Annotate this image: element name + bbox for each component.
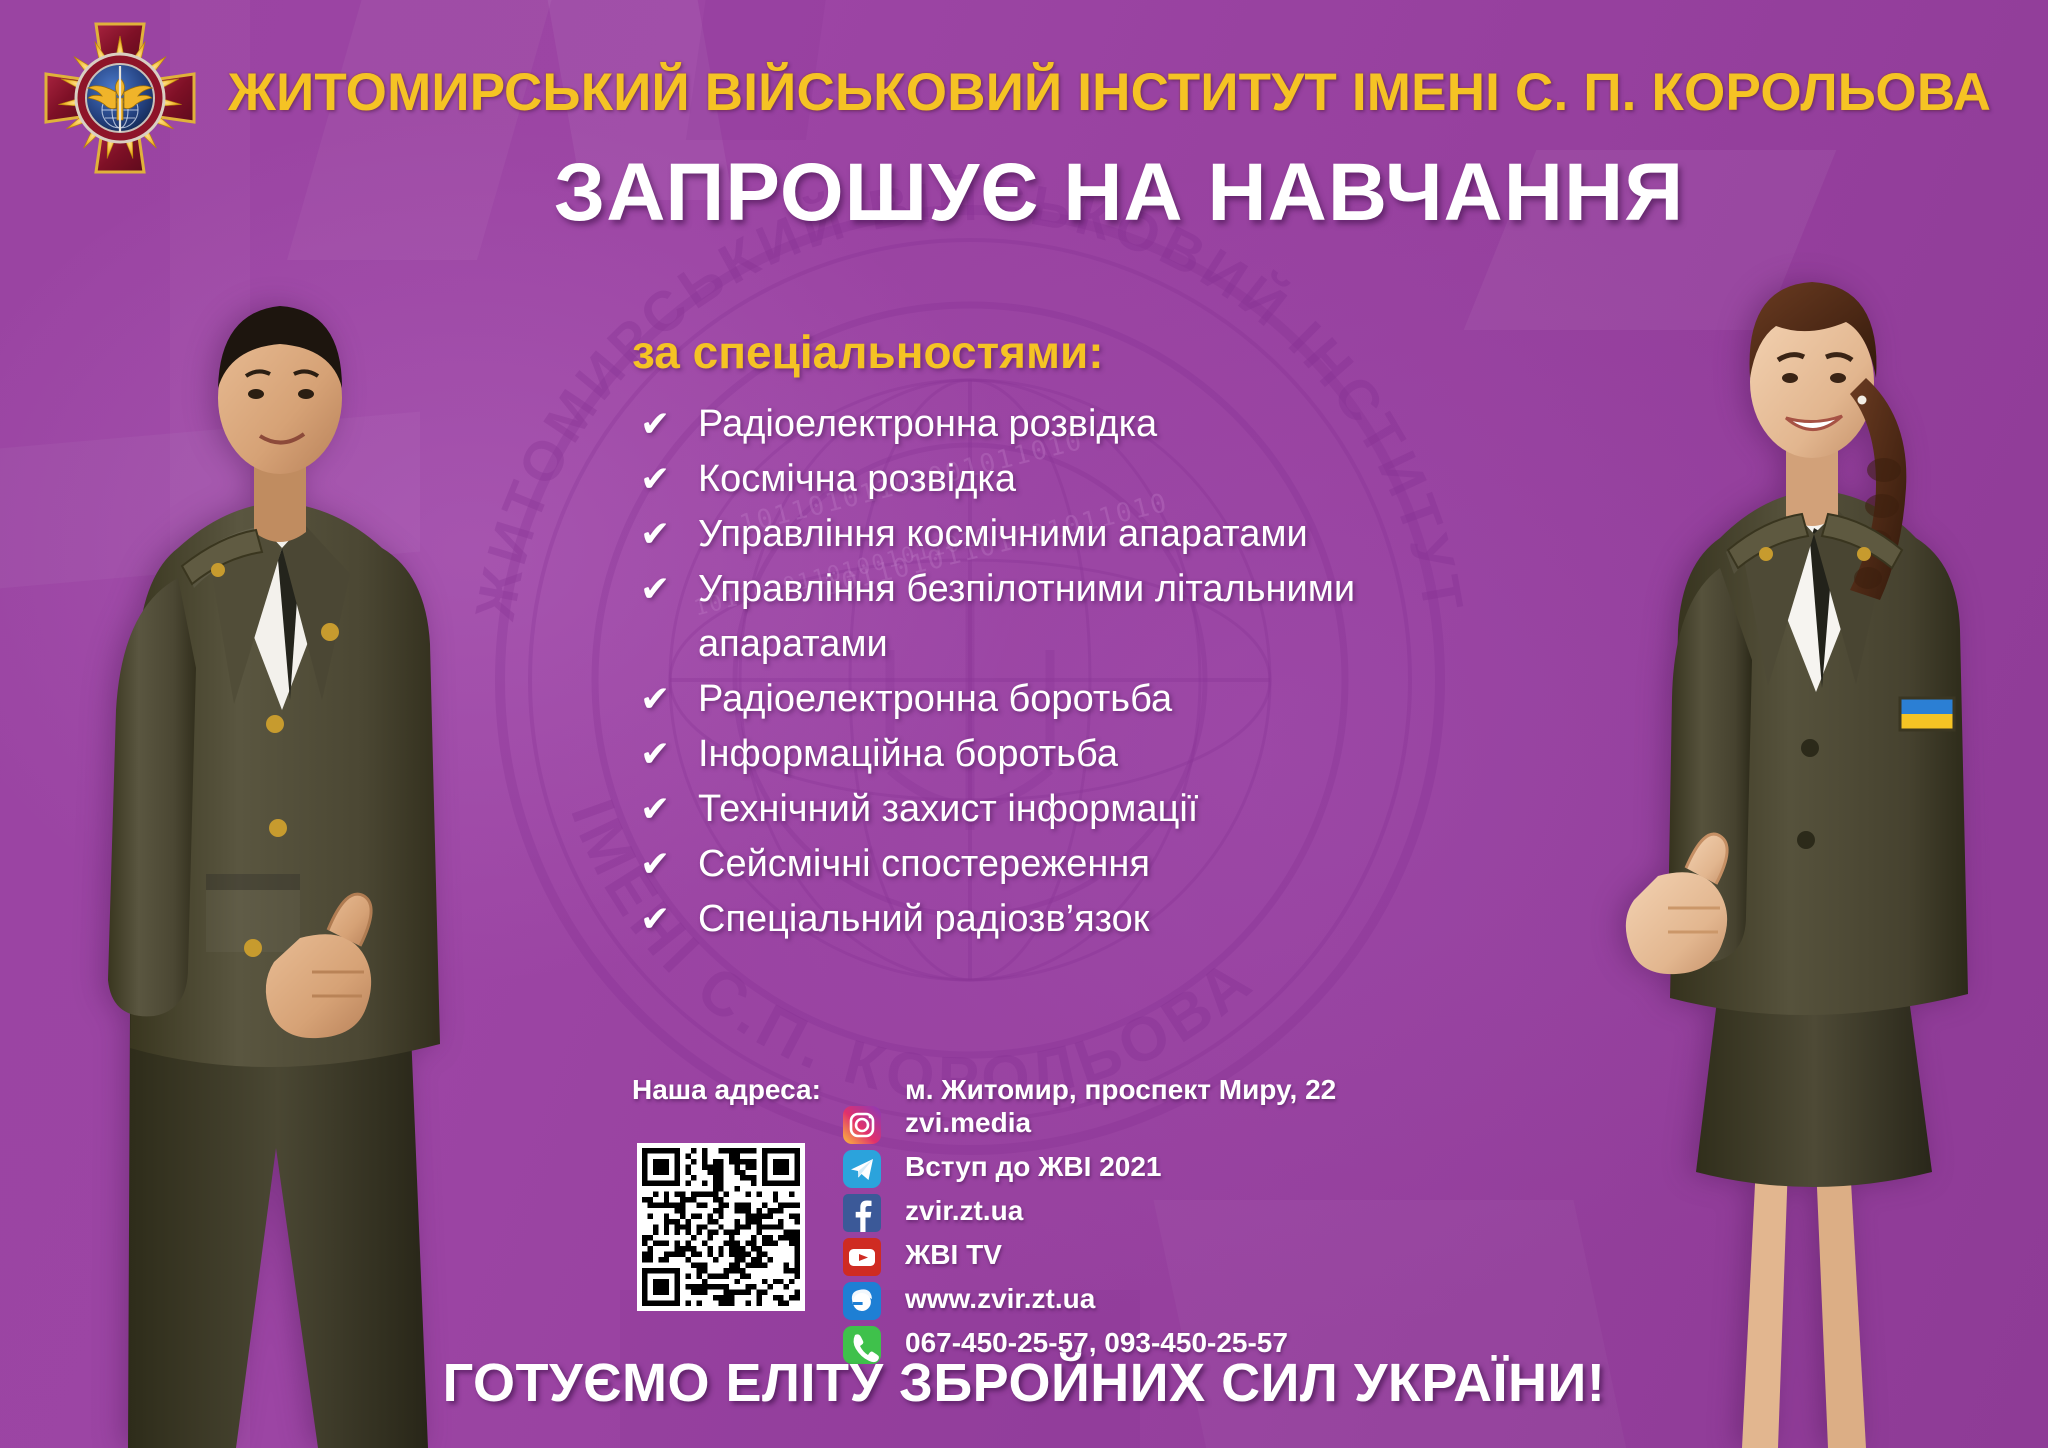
check-icon: ✔ bbox=[632, 730, 698, 778]
check-icon: ✔ bbox=[632, 895, 698, 943]
specialty-item: ✔апаратами bbox=[632, 620, 1582, 668]
specialty-label: апаратами bbox=[698, 620, 888, 668]
specialty-item: ✔Радіоелектронна розвідка bbox=[632, 400, 1582, 448]
specialty-label: Спеціальний радіозв’язок bbox=[698, 895, 1149, 943]
check-icon: ✔ bbox=[632, 675, 698, 723]
specialty-label: Радіоелектронна боротьба bbox=[698, 675, 1172, 723]
specialty-label: Управління безпілотними літальними bbox=[698, 565, 1355, 613]
specialty-label: Технічний захист інформації bbox=[698, 785, 1198, 833]
institute-title: ЖИТОМИРСЬКИЙ ВІЙСЬКОВИЙ ІНСТИТУТ ІМЕНІ С… bbox=[228, 62, 1928, 123]
specialty-item: ✔Сейсмічні спостереження bbox=[632, 840, 1582, 888]
specialty-label: Радіоелектронна розвідка bbox=[698, 400, 1157, 448]
page-headline: ЗАПРОШУЄ НА НАВЧАННЯ bbox=[0, 146, 2048, 240]
specialty-label: Космічна розвідка bbox=[698, 455, 1016, 503]
youtube-icon[interactable] bbox=[843, 1238, 883, 1272]
check-icon: ✔ bbox=[632, 455, 698, 503]
female-cadet-photo bbox=[1570, 228, 2040, 1448]
recruitment-poster: ЖИТОМИРСЬКИЙ ВІЙСЬКОВИЙ ІНСТИТУТ ІМЕНІ С… bbox=[0, 0, 2048, 1448]
contact-row[interactable]: Вступ до ЖВІ 2021 bbox=[843, 1148, 1288, 1186]
specialty-item: ✔Управління космічними апаратами bbox=[632, 510, 1582, 558]
specialty-label: Управління космічними апаратами bbox=[698, 510, 1308, 558]
contact-links-list: zvi.mediaВступ до ЖВІ 2021zvir.zt.uaЖВІ … bbox=[843, 1104, 1288, 1368]
contact-label[interactable]: ЖВІ TV bbox=[905, 1239, 1002, 1271]
specialty-item: ✔Космічна розвідка bbox=[632, 455, 1582, 503]
telegram-icon[interactable] bbox=[843, 1150, 883, 1184]
specialties-subheading: за спеціальностями: bbox=[632, 325, 1104, 379]
check-icon: ✔ bbox=[632, 785, 698, 833]
contact-label[interactable]: zvir.zt.ua bbox=[905, 1195, 1023, 1227]
check-icon: ✔ bbox=[632, 510, 698, 558]
specialties-list: ✔Радіоелектронна розвідка✔Космічна розві… bbox=[632, 400, 1582, 950]
check-icon: ✔ bbox=[632, 400, 698, 448]
check-icon: ✔ bbox=[632, 840, 698, 888]
contact-row[interactable]: www.zvir.zt.ua bbox=[843, 1280, 1288, 1318]
check-icon: ✔ bbox=[632, 565, 698, 613]
specialty-label: Сейсмічні спостереження bbox=[698, 840, 1150, 888]
qr-code[interactable] bbox=[637, 1143, 805, 1311]
facebook-icon[interactable] bbox=[843, 1194, 883, 1228]
specialty-item: ✔Технічний захист інформації bbox=[632, 785, 1582, 833]
instagram-icon[interactable] bbox=[843, 1106, 883, 1140]
contact-label[interactable]: zvi.media bbox=[905, 1107, 1031, 1139]
specialty-item: ✔Управління безпілотними літальними bbox=[632, 565, 1582, 613]
contact-row[interactable]: zvir.zt.ua bbox=[843, 1192, 1288, 1230]
internet-explorer-icon[interactable] bbox=[843, 1282, 883, 1316]
address-label: Наша адреса: bbox=[632, 1074, 821, 1106]
specialty-item: ✔Інформаційна боротьба bbox=[632, 730, 1582, 778]
male-cadet-photo bbox=[10, 248, 550, 1448]
contact-row[interactable]: ЖВІ TV bbox=[843, 1236, 1288, 1274]
address-value: м. Житомир, проспект Миру, 22 bbox=[905, 1074, 1336, 1106]
contact-row[interactable]: zvi.media bbox=[843, 1104, 1288, 1142]
specialty-item: ✔Спеціальний радіозв’язок bbox=[632, 895, 1582, 943]
specialty-item: ✔Радіоелектронна боротьба bbox=[632, 675, 1582, 723]
contact-label[interactable]: Вступ до ЖВІ 2021 bbox=[905, 1151, 1162, 1183]
specialty-label: Інформаційна боротьба bbox=[698, 730, 1118, 778]
contact-label[interactable]: www.zvir.zt.ua bbox=[905, 1283, 1095, 1315]
